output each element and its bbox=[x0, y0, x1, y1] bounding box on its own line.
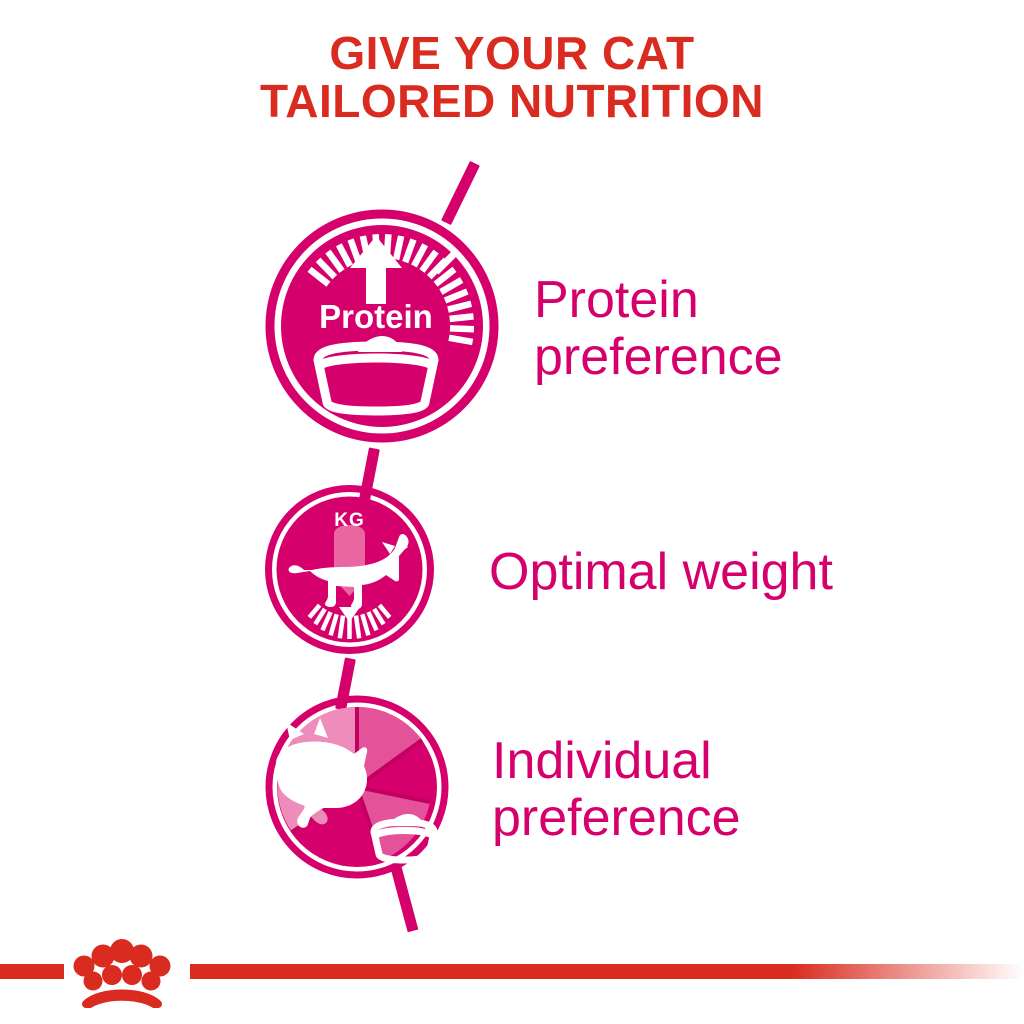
feature-label-protein-preference: Protein preference bbox=[534, 272, 783, 384]
kg-icon-text: KG bbox=[334, 510, 365, 531]
headline-line-2: TAILORED NUTRITION bbox=[0, 78, 1024, 126]
infographic-canvas: GIVE YOUR CAT TAILORED NUTRITION bbox=[0, 0, 1024, 1024]
protein-gauge-icon: Protein bbox=[262, 206, 502, 451]
footer bbox=[0, 955, 1024, 1024]
page-title: GIVE YOUR CAT TAILORED NUTRITION bbox=[0, 30, 1024, 126]
footer-bar-right bbox=[190, 964, 1024, 979]
protein-icon-text: Protein bbox=[319, 298, 433, 335]
feature-protein-preference: Protein Protein preference bbox=[262, 206, 783, 451]
feature-individual-preference: Individual preference bbox=[262, 692, 741, 887]
footer-bar-left bbox=[0, 964, 64, 979]
headline-line-1: GIVE YOUR CAT bbox=[0, 30, 1024, 78]
feature-label-optimal-weight: Optimal weight bbox=[489, 544, 833, 600]
cat-eating-pie-icon bbox=[262, 692, 452, 887]
feature-optimal-weight: KG Optimal weight bbox=[262, 482, 833, 662]
feature-label-individual-preference: Individual preference bbox=[492, 733, 741, 845]
weight-scale-cat-icon: KG bbox=[262, 482, 437, 662]
royal-canin-crown-logo bbox=[62, 930, 182, 1008]
